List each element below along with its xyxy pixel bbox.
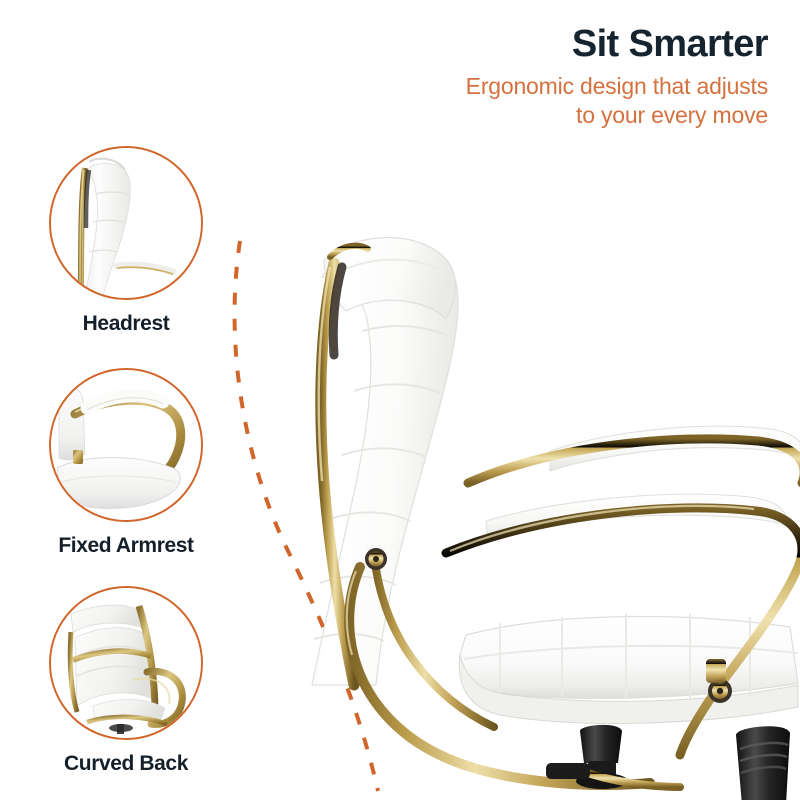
headline-block: Sit Smarter Ergonomic design that adjust… [338, 24, 768, 131]
callout-curved-back: Curved Back [38, 586, 214, 776]
page-title: Sit Smarter [338, 24, 768, 66]
chair-armrest-detail-icon [51, 370, 201, 520]
callout-headrest-ring [49, 146, 203, 300]
chair-curved-back-detail-icon [51, 588, 201, 738]
callout-headrest: Headrest [38, 146, 214, 336]
product-feature-graphic: Sit Smarter Ergonomic design that adjust… [0, 0, 800, 800]
callout-curved-back-label: Curved Back [38, 752, 214, 776]
callout-fixed-armrest: Fixed Armrest [38, 368, 214, 558]
page-subtitle: Ergonomic design that adjusts to your ev… [338, 72, 768, 131]
callout-curved-back-ring [49, 586, 203, 740]
callout-fixed-armrest-ring [49, 368, 203, 522]
office-chair-side-profile-icon [250, 215, 800, 800]
callout-headrest-label: Headrest [38, 312, 214, 336]
callout-fixed-armrest-label: Fixed Armrest [38, 534, 214, 558]
chair-headrest-detail-icon [51, 148, 201, 298]
